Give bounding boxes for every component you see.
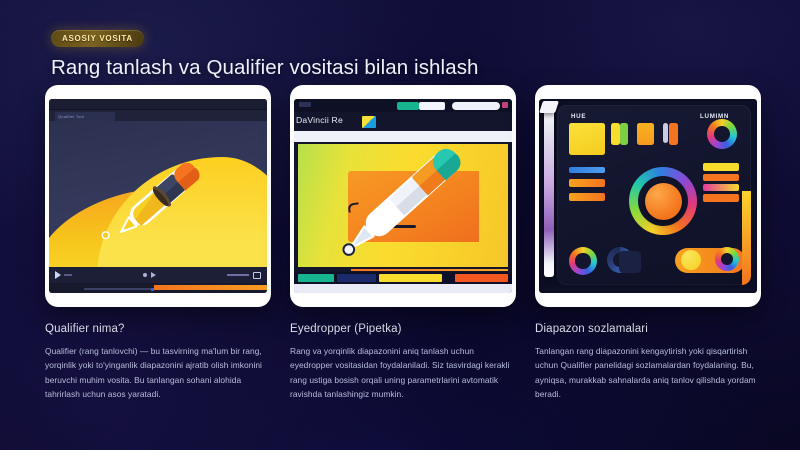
volume-slider[interactable] [227,274,249,276]
player-controls[interactable] [49,267,267,283]
card-body: Tanlangan rang diapazonini kengaytirish … [535,344,761,402]
swatch-primary[interactable] [569,123,605,155]
card-grid: Qualifier Tool [45,85,760,402]
editor-menu-chip[interactable] [299,102,311,107]
knob-mid-plate[interactable] [619,251,641,273]
screenshot-frame-1: Qualifier Tool [45,85,271,307]
card-title: Qualifier nima? [45,323,271,335]
timeline-gap [445,274,451,282]
player-tab[interactable]: Qualifier Tool [55,112,115,121]
slide-header: ASOSIY VOSITA Rang tanlash va Qualifier … [51,28,479,80]
monitor-subject-shape [348,171,478,242]
section-badge: ASOSIY VOSITA [51,30,144,47]
editor-monitor [298,144,508,267]
editor-footer [294,284,512,293]
timeline-clip[interactable] [298,274,334,282]
knob-right[interactable] [715,247,739,271]
luminance-wheel[interactable] [707,119,737,149]
editor-window-mock: DaVincii Re [294,99,512,293]
player-right-controls[interactable] [227,272,261,279]
editor-scrub-line[interactable] [351,269,508,271]
player-canvas [49,121,267,267]
editor-app-label: DaVincii Re [296,115,343,125]
knob-low[interactable] [569,247,597,275]
editor-status-pill-green[interactable] [397,102,419,110]
card-title: Diapazon sozlamalari [535,323,761,335]
screenshot-frame-3: HUE LUMIMN [535,85,761,307]
monitor-mouth-detail [378,225,416,228]
eyedropper-illustration [49,121,267,267]
range-bar-1[interactable] [569,167,605,173]
progress-fill [154,285,267,290]
page-title: Rang tanlash va Qualifier vositasi bilan… [51,56,479,80]
master-slider[interactable] [544,107,554,277]
card-body: Qualifier (rang tanlovchi) — bu tasvirni… [45,344,271,402]
swatch-c[interactable] [637,123,654,145]
monitor-brow-detail [348,202,360,212]
card-range-settings: HUE LUMIMN [535,85,761,402]
editor-status-pill-white[interactable] [419,102,445,110]
knob-yellow[interactable] [681,250,701,270]
side-bar-1[interactable] [703,163,739,171]
side-bar-4[interactable] [703,194,739,202]
hue-wheel-knob[interactable] [645,183,682,220]
player-tab-label: Qualifier Tool [55,112,115,119]
swatch-e[interactable] [669,123,678,145]
range-bar-3[interactable] [569,193,605,201]
timeline-clip[interactable] [379,274,442,282]
next-frame-icon[interactable] [151,272,156,278]
swatch-b[interactable] [620,123,628,145]
card-qualifier: Qualifier Tool [45,85,271,402]
slide-root: ASOSIY VOSITA Rang tanlash va Qualifier … [0,0,800,450]
player-progress-bar[interactable] [49,283,267,293]
card-body: Rang va yorqinlik diapazonini aniq tanla… [290,344,516,402]
color-panel-mock: HUE LUMIMN [539,99,757,293]
play-icon[interactable] [55,271,61,279]
swatch-a[interactable] [611,123,620,145]
panel-accent-edge [742,191,751,285]
color-swatch-icon[interactable] [362,116,376,128]
slider-cap-icon[interactable] [539,101,559,113]
timeline-clip[interactable] [455,274,508,282]
qualifier-panel: HUE LUMIMN [557,105,751,285]
screenshot-frame-2: DaVincii Re [290,85,516,307]
swatch-d[interactable] [663,123,668,143]
timeline-clip[interactable] [337,274,376,282]
cursor-icon [378,125,382,130]
side-bar-2[interactable] [703,174,739,181]
time-label-placeholder [64,274,72,276]
editor-toolbar-separator [294,131,512,142]
editor-timeline[interactable] [294,272,512,284]
transport-controls[interactable] [143,272,156,278]
record-dot-icon[interactable] [143,273,147,277]
card-title: Eyedropper (Pipetka) [290,323,516,335]
fullscreen-icon[interactable] [253,272,261,279]
side-bar-3[interactable] [703,184,739,191]
player-topbar [49,99,267,110]
card-eyedropper: DaVincii Re [290,85,516,402]
range-bar-2[interactable] [569,179,605,187]
hue-label: HUE [571,113,586,120]
video-player-mock: Qualifier Tool [49,99,267,293]
editor-search-pill[interactable] [452,102,500,110]
close-icon[interactable] [502,102,508,108]
